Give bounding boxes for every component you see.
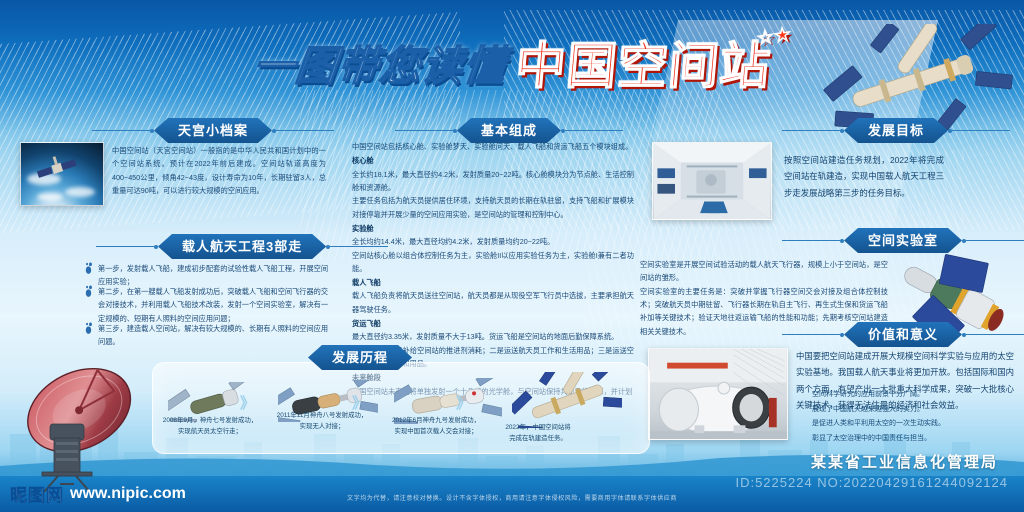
lab-hall-photo — [648, 348, 788, 440]
timeline-m1-line2: 实现航天员太空行走； — [150, 427, 270, 438]
title-part-two-text: 中国空间站 — [513, 37, 773, 95]
header-lead-right — [272, 129, 334, 133]
section-header-history: 发展历程 — [308, 345, 412, 370]
value-point-3: 彰显了太空治理中的中国责任与担当。 — [812, 432, 1018, 447]
site-url: www.nipic.com — [70, 485, 186, 503]
three-steps-text-2: 第二步，在第一艘载人飞船发射成功后，突破载人飞船和空间飞行器的交会对接技术，并利… — [98, 285, 328, 325]
value-point-2: 是促进人类和平利用太空的一次生动实践。 — [812, 417, 1018, 432]
composition-label-3: 货运飞船 — [352, 317, 634, 330]
ribbon-archive: 天宫小档案 — [154, 118, 272, 143]
composition-label-1: 实验舱 — [352, 222, 634, 235]
timeline-milestone-2: 2011年11月神舟八号发射成功， 实现无人对接； — [262, 411, 382, 432]
timeline-m2-line2: 实现无人对接； — [262, 422, 382, 433]
timeline-milestone-1: 2008年9月，神舟七号发射成功， 实现航天员太空行走； — [150, 416, 270, 437]
timeline-m1-line1: 2008年9月，神舟七号发射成功， — [150, 416, 270, 427]
composition-label-0: 核心舱 — [352, 154, 634, 167]
poster-canvas: 一图带您读懂 中国空间站 ☆★ 天宫小档案 — [0, 0, 1024, 512]
header-lead-right — [962, 239, 1024, 243]
archive-body: 中国空间站（天宫空间站）一般指的是中华人民共和国计划中的一个空间站系统。预计在2… — [112, 144, 326, 197]
value-point-0: 空间科学研究的应用前景十分广阔。 — [812, 388, 1018, 403]
three-steps-item-2: 第二步，在第一艘载人飞船发射成功后，突破载人飞船和空间飞行器的交会对接技术，并利… — [84, 285, 328, 325]
value-point-1: 展现了中国航天越来越强大的实力。 — [812, 403, 1018, 418]
watermark-id: ID:5225224 NO:20220429161244092124 — [735, 475, 1008, 490]
composition-line-3-0: 最大直径约3.35米，发射质量不大于13吨。货运飞船是空间站的地面后勤保障系统。 — [352, 330, 634, 343]
site-name-cn: 昵图网 — [10, 481, 64, 506]
space-lab-line-0: 空间实验室是开展空间试验活动的载人航天飞行器，规模上小于空间站，是空间站的雏形。 — [640, 258, 888, 285]
section-header-value: 价值和意义 — [782, 322, 1024, 347]
timeline-chevron-3: 》 — [456, 392, 471, 413]
composition-label-2: 载人飞船 — [352, 276, 634, 289]
timeline-m2-line1: 2011年11月神舟八号发射成功， — [262, 411, 382, 422]
title-part-one: 一图带您读懂 — [250, 32, 508, 92]
ribbon-history: 发展历程 — [308, 345, 412, 370]
footprint-icon — [84, 285, 93, 298]
composition-line-1-1: 空间站核心舱以组合体控制任务为主，实验舱II以应用实验任务为主，实验舱I兼有二者… — [352, 249, 634, 276]
footprint-icon — [84, 262, 93, 275]
three-steps-text-3: 第三步，建造载人空间站，解决有较大规模的、长期有人照料的空间应用问题。 — [98, 322, 328, 349]
composition-line-0-0: 全长约18.1米，最大直径约4.2米，发射质量20~22吨。核心舱模块分为节点舱… — [352, 168, 634, 195]
sparkle-icon: ☆★ — [756, 24, 791, 50]
organization-name: 某某省工业信息化管理局 — [811, 451, 998, 472]
header-lead-left — [782, 333, 844, 337]
composition-line-2-0: 载人飞船负责将航天员送往空间站，航天员都是从现役空军飞行员中选拔，主要承担航天器… — [352, 289, 634, 316]
header-lead-left — [782, 239, 844, 243]
composition-line-0-1: 主要任务包括为航天员提供居住环境，支持航天员的长期在轨驻留，支持飞船和扩展模块对… — [352, 194, 634, 221]
disclaimer-text: 文字均为代替，请注意校对替换。设计不含字体授权，商用请注意字体侵权风险，需要商用… — [347, 493, 677, 502]
header-lead-right — [561, 129, 623, 133]
timeline-m4-line2: 完成在轨建造任务。 — [478, 434, 598, 445]
header-lead-left — [782, 129, 844, 133]
timeline-craft-4 — [512, 372, 622, 428]
section-header-three-steps: 载人航天工程3部走 — [96, 234, 388, 259]
header-lead-left — [92, 129, 154, 133]
ribbon-three-steps: 载人航天工程3部走 — [158, 234, 326, 259]
timeline-chevron-1: 》 — [240, 392, 255, 413]
site-watermark: 昵图网 www.nipic.com — [10, 481, 186, 506]
title-part-two: 中国空间站 ☆★ — [512, 26, 773, 98]
header-lead-right — [962, 333, 1024, 337]
header-lead-right — [948, 129, 1010, 133]
footprint-icon — [84, 322, 93, 335]
composition-intro: 中国空间站包括核心舱、实验舱梦天、实验舱问天、载人飞船和货运飞船五个模块组成。 — [352, 140, 634, 153]
timeline-m4-line1: 2022年，中国空间站将 — [478, 423, 598, 434]
timeline-milestone-4: 2022年，中国空间站将 完成在轨建造任务。 — [478, 423, 598, 444]
ribbon-goals: 发展目标 — [844, 118, 948, 143]
goals-body: 按照空间站建造任务规划，2022年将完成空间站在轨建造，实现中国载人航天工程三步… — [784, 152, 944, 201]
satellite-dish-illustration — [2, 352, 162, 492]
earth-satellite-photo — [20, 142, 104, 206]
three-steps-item-3: 第三步，建造载人空间站，解决有较大规模的、长期有人照料的空间应用问题。 — [84, 322, 328, 349]
ribbon-value: 价值和意义 — [844, 322, 962, 347]
cabin-interior-photo — [652, 142, 772, 220]
value-points: 空间科学研究的应用前景十分广阔。 展现了中国航天越来越强大的实力。 是促进人类和… — [812, 388, 1018, 447]
timeline-chevron-2: 》 — [352, 392, 367, 413]
section-header-goals: 发展目标 — [782, 118, 1010, 143]
section-header-archive: 天宫小档案 — [92, 118, 334, 143]
composition-line-1-0: 全长均约14.4米，最大直径均约4.2米，发射质量均约20~22吨。 — [352, 235, 634, 248]
header-lead-left — [395, 129, 457, 133]
header-lead-left — [96, 245, 158, 249]
